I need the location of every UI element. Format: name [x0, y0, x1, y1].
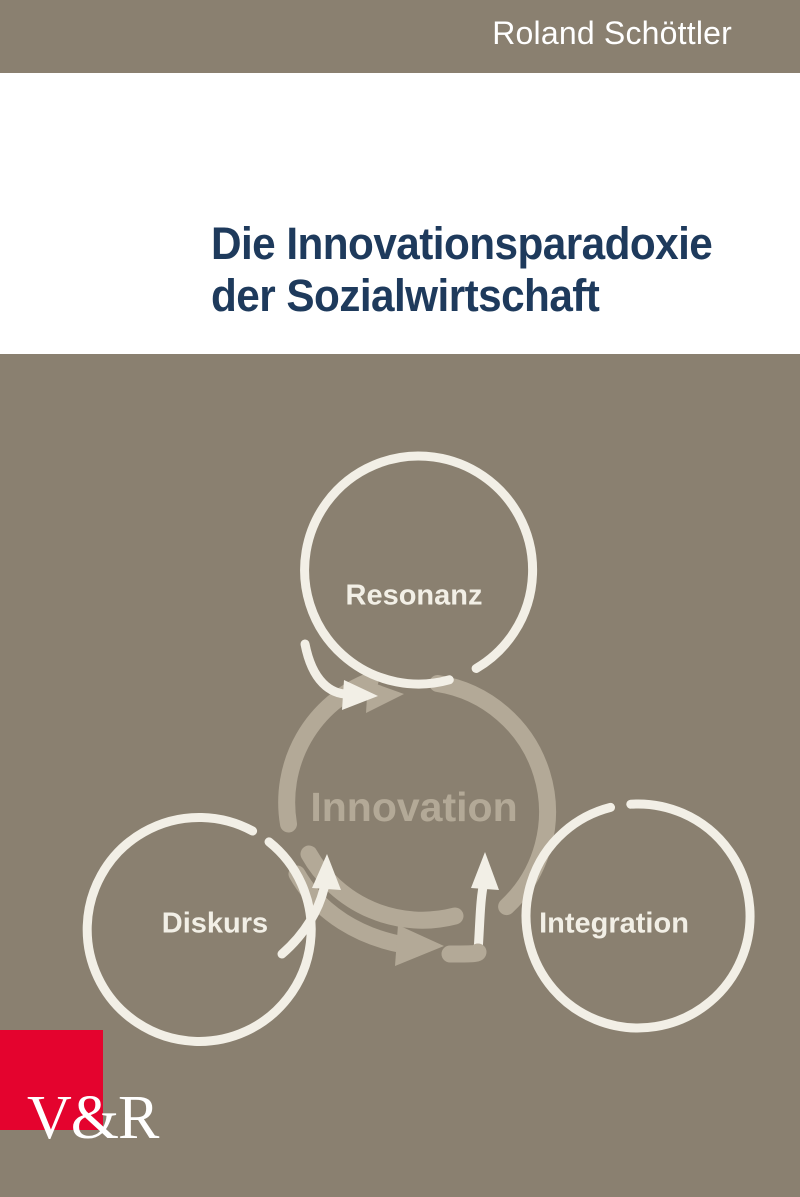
innovation-cycle-diagram: Resonanz Diskurs Integration [0, 354, 800, 1197]
node-label-diskurs: Diskurs [162, 908, 268, 940]
publisher-logo-text: V&R [27, 1087, 158, 1149]
node-label-integration: Integration [539, 908, 689, 940]
author-name: Roland Schöttler [492, 15, 732, 52]
page-title: Die Innovationsparadoxie der Sozialwirts… [211, 218, 771, 322]
node-resonanz: Resonanz [290, 441, 548, 710]
title-line-1: Die Innovationsparadoxie [211, 218, 737, 270]
book-cover: Roland Schöttler Die Innovationsparadoxi… [0, 0, 800, 1197]
node-label-resonanz: Resonanz [346, 580, 483, 612]
title-line-2: der Sozialwirtschaft [211, 270, 737, 322]
center-label-innovation: Innovation [310, 784, 517, 830]
